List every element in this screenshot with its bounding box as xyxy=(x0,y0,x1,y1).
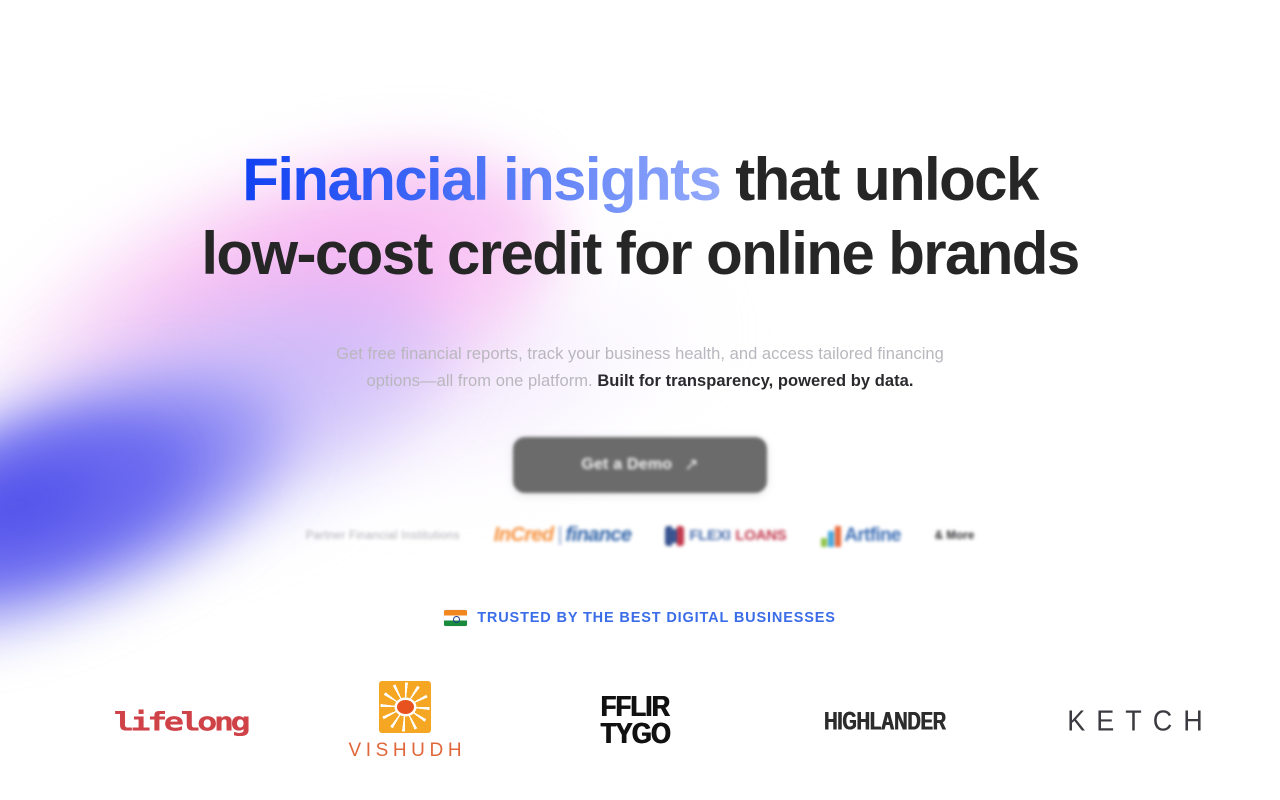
lifelong-wordmark: lifelong xyxy=(113,708,247,734)
fflir-tygo-wordmark: FFLIR TYGO xyxy=(600,694,670,748)
partner-logo-artfine[interactable]: Artfine xyxy=(820,525,900,547)
page-title: Financial insights that unlock low-cost … xyxy=(110,143,1170,291)
partners-and-more-label: & More xyxy=(935,530,975,542)
get-a-demo-button[interactable]: Get a Demo ↗ xyxy=(513,437,767,493)
flexiloans-wordmark-loans: LOANS xyxy=(735,527,786,544)
hero-subtitle: Get free financial reports, track your b… xyxy=(310,341,970,395)
artfine-bar-orange xyxy=(835,526,841,547)
vishudh-sun-icon xyxy=(379,681,431,733)
flexiloans-mark-icon xyxy=(665,526,684,546)
client-logo-row: lifelong VISHUDH FFLIR TYGO HIGHLANDER K… xyxy=(0,666,1280,776)
partner-institutions-label: Partner Financial Institutions xyxy=(306,530,460,542)
client-logo-lifelong[interactable]: lifelong xyxy=(70,666,290,776)
headline-highlight: Financial insights xyxy=(242,146,720,213)
flexiloans-wordmark-flexi: FLEXI xyxy=(689,527,730,544)
incred-divider-icon xyxy=(559,526,561,545)
incred-finance-wordmark: finance xyxy=(566,524,632,547)
client-logo-vishudh[interactable]: VISHUDH xyxy=(290,666,520,776)
landing-page: Financial insights that unlock low-cost … xyxy=(0,0,1280,800)
cta-container: Get a Demo ↗ xyxy=(0,437,1280,493)
headline-rest: that unlock xyxy=(720,146,1037,213)
client-logo-fflir-tygo[interactable]: FFLIR TYGO xyxy=(520,666,750,776)
partner-logo-incred-finance[interactable]: InCred finance xyxy=(494,524,632,547)
vishudh-sun-core xyxy=(397,700,414,714)
highlander-wordmark: HIGHLANDER xyxy=(824,706,946,735)
incred-wordmark: InCred xyxy=(494,524,554,547)
india-flag-icon xyxy=(444,610,467,626)
arrow-up-right-icon: ↗ xyxy=(684,455,698,475)
hero-section: Financial insights that unlock low-cost … xyxy=(0,0,1280,547)
get-a-demo-label: Get a Demo xyxy=(581,456,672,474)
trusted-by-label: TRUSTED BY THE BEST DIGITAL BUSINESSES xyxy=(477,610,836,626)
client-logo-ketch[interactable]: KETCH xyxy=(1020,666,1250,776)
partner-logo-flexiloans[interactable]: FLEXILOANS xyxy=(665,526,786,546)
ketch-wordmark: KETCH xyxy=(1056,705,1214,738)
partner-institutions-strip: Partner Financial Institutions InCred fi… xyxy=(0,524,1280,547)
fflir-line-two: TYGO xyxy=(600,718,670,750)
artfine-bar-green xyxy=(821,538,827,547)
vishudh-wordmark: VISHUDH xyxy=(344,740,466,762)
artfine-wordmark: Artfine xyxy=(844,525,900,547)
client-logo-highlander[interactable]: HIGHLANDER xyxy=(750,666,1020,776)
headline-line-two: low-cost credit for online brands xyxy=(201,220,1078,287)
artfine-bar-blue xyxy=(828,531,834,547)
trusted-by-banner: TRUSTED BY THE BEST DIGITAL BUSINESSES xyxy=(0,610,1280,626)
artfine-bars-icon xyxy=(820,525,842,547)
hero-subtitle-strong: Built for transparency, powered by data. xyxy=(597,372,913,390)
